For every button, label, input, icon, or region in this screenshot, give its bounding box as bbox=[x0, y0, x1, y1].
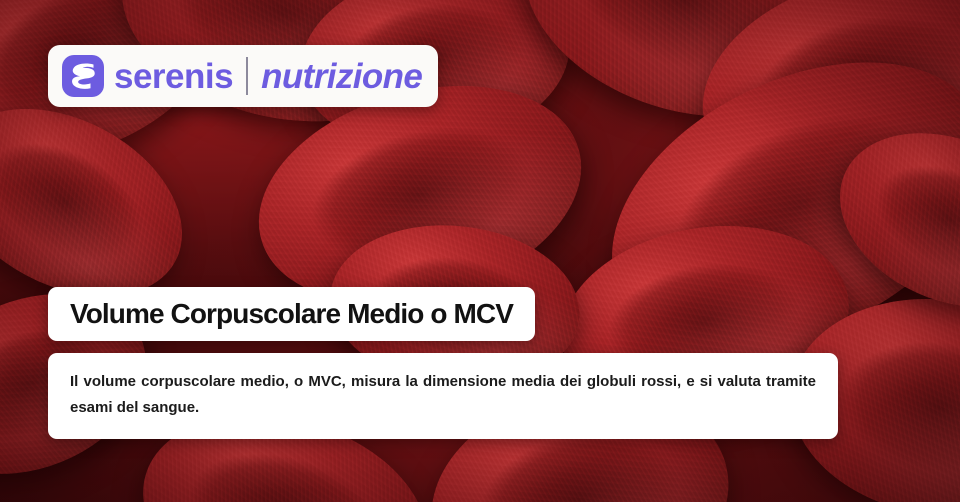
brand-divider bbox=[246, 57, 248, 95]
title-card: Volume Corpuscolare Medio o MCV bbox=[48, 287, 535, 341]
description-text: Il volume corpuscolare medio, o MVC, mis… bbox=[70, 369, 816, 421]
brand-logo-badge: serenis nutrizione bbox=[48, 45, 438, 107]
page-title: Volume Corpuscolare Medio o MCV bbox=[70, 300, 513, 328]
brand-vertical: nutrizione bbox=[261, 59, 422, 94]
brand-name: serenis bbox=[114, 59, 233, 94]
serenis-s-logo-icon bbox=[62, 55, 104, 97]
description-card: Il volume corpuscolare medio, o MVC, mis… bbox=[48, 353, 838, 439]
poster-canvas: serenis nutrizione Volume Corpuscolare M… bbox=[0, 0, 960, 502]
